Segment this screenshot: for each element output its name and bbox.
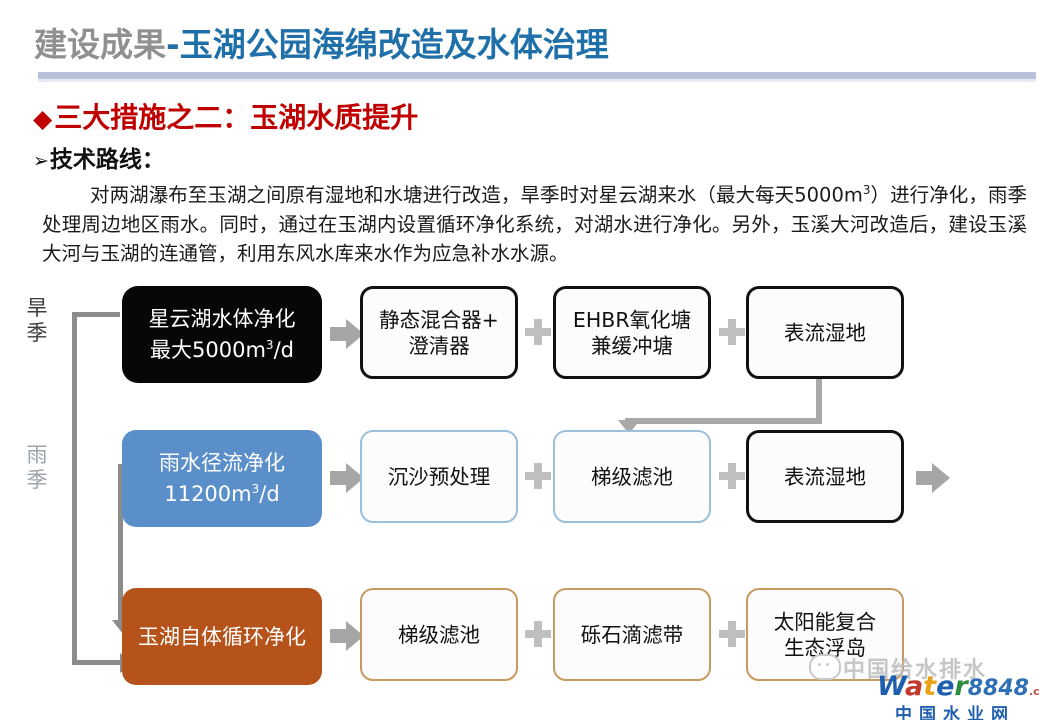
paragraph-part-1: 对两湖瀑布至玉湖之间原有湿地和水塘进行改造，旱季时对星云湖来水（最大每天5000… bbox=[90, 184, 863, 207]
arrow-icon-dry-1 bbox=[330, 319, 364, 349]
page-title-prefix: 建设成果 bbox=[34, 25, 166, 64]
plus-icon-self-1 bbox=[525, 621, 551, 647]
arrow-icon-rainy-1 bbox=[330, 463, 364, 493]
node-stage-dry-3-line1: 表流湿地 bbox=[784, 320, 866, 346]
connector-wetland-horizontal bbox=[625, 418, 822, 424]
flow-row-dry-season: 星云湖水体净化 最大5000m3/d 静态混合器+ 澄清器 EHBR氧化塘 兼缓… bbox=[0, 286, 1040, 386]
body-paragraph: 对两湖瀑布至玉湖之间原有湿地和水塘进行改造，旱季时对星云湖来水（最大每天5000… bbox=[42, 176, 1027, 268]
diamond-bullet-icon: ◆ bbox=[33, 104, 52, 133]
header-divider bbox=[38, 72, 1036, 79]
plus-icon-dry-2 bbox=[719, 319, 745, 345]
section-heading: ◆三大措施之二：玉湖水质提升 bbox=[33, 96, 418, 136]
node-stage-self-2-line1: 砾石滴滤带 bbox=[581, 622, 684, 648]
node-stage-dry-2-line2: 兼缓冲塘 bbox=[573, 333, 691, 359]
node-source-rainy-line2-post: /d bbox=[259, 482, 279, 506]
triangle-bullet-icon: ➢ bbox=[33, 150, 49, 172]
node-source-dry-line2-post: /d bbox=[274, 338, 294, 362]
node-stage-rainy-2[interactable]: 梯级滤池 bbox=[553, 430, 711, 523]
brand-letter-a: a bbox=[905, 671, 923, 702]
node-stage-dry-1-line1: 静态混合器+ bbox=[379, 307, 499, 333]
node-stage-rainy-3[interactable]: 表流湿地 bbox=[746, 430, 904, 523]
plus-icon-self-2 bbox=[719, 621, 745, 647]
node-stage-dry-3[interactable]: 表流湿地 bbox=[746, 286, 904, 379]
node-stage-rainy-2-line1: 梯级滤池 bbox=[591, 464, 673, 490]
node-source-dry-line2-pre: 最大5000m bbox=[150, 338, 266, 362]
node-stage-dry-1-line2: 澄清器 bbox=[379, 333, 499, 359]
flow-row-rainy-season: 雨水径流净化 11200m3/d 沉沙预处理 梯级滤池 表流湿地 bbox=[0, 430, 1040, 530]
brand-letter-e: e bbox=[936, 671, 954, 702]
plus-icon-rainy-2 bbox=[719, 463, 745, 489]
header-divider-shadow bbox=[38, 79, 1036, 82]
page-title: 建设成果-玉湖公园海绵改造及水体治理 bbox=[34, 18, 609, 66]
watermark-cn-bottom: 中国水业网 bbox=[895, 700, 1015, 720]
node-source-rainy-line1: 雨水径流净化 bbox=[159, 450, 285, 476]
sub-heading-text: 技术路线： bbox=[50, 147, 165, 173]
node-stage-self-3-line1: 太阳能复合 bbox=[774, 609, 877, 635]
node-stage-rainy-1[interactable]: 沉沙预处理 bbox=[360, 430, 518, 523]
node-stage-rainy-1-line1: 沉沙预处理 bbox=[388, 464, 491, 490]
brand-number: 8848 bbox=[968, 676, 1029, 701]
node-source-self-line1: 玉湖自体循环净化 bbox=[138, 624, 306, 650]
slide-canvas: 建设成果-玉湖公园海绵改造及水体治理 ◆三大措施之二：玉湖水质提升 ➢技术路线：… bbox=[0, 0, 1040, 720]
wechat-face-icon bbox=[809, 654, 841, 680]
brand-letter-r: r bbox=[954, 671, 967, 702]
node-source-self-circulation[interactable]: 玉湖自体循环净化 bbox=[122, 588, 322, 685]
watermark-brand: Water8848.com bbox=[877, 671, 1040, 702]
arrow-icon-rainy-out bbox=[916, 463, 950, 493]
brand-letter-t: t bbox=[923, 671, 936, 702]
brand-letter-w: W bbox=[877, 671, 905, 702]
paragraph-superscript: 3 bbox=[863, 183, 871, 197]
node-stage-self-2[interactable]: 砾石滴滤带 bbox=[553, 588, 711, 681]
brand-dotcom: .com bbox=[1029, 685, 1040, 698]
node-stage-dry-2-line1: EHBR氧化塘 bbox=[573, 307, 691, 333]
node-stage-dry-2[interactable]: EHBR氧化塘 兼缓冲塘 bbox=[553, 286, 711, 379]
arrow-icon-self-1 bbox=[330, 621, 364, 651]
node-source-rainy-season[interactable]: 雨水径流净化 11200m3/d bbox=[122, 430, 322, 527]
plus-icon-dry-1 bbox=[525, 319, 551, 345]
sub-heading: ➢技术路线： bbox=[33, 140, 165, 174]
plus-icon-rainy-1 bbox=[525, 463, 551, 489]
page-title-main: -玉湖公园海绵改造及水体治理 bbox=[166, 25, 609, 64]
node-source-dry-line2-sup: 3 bbox=[266, 338, 274, 352]
node-stage-self-1[interactable]: 梯级滤池 bbox=[360, 588, 518, 681]
node-stage-self-1-line1: 梯级滤池 bbox=[398, 622, 480, 648]
node-source-rainy-line2-pre: 11200m bbox=[164, 482, 251, 506]
node-stage-dry-1[interactable]: 静态混合器+ 澄清器 bbox=[360, 286, 518, 379]
section-heading-text: 三大措施之二：玉湖水质提升 bbox=[54, 101, 418, 134]
node-source-dry-line1: 星云湖水体净化 bbox=[149, 306, 296, 332]
node-stage-rainy-3-line1: 表流湿地 bbox=[784, 464, 866, 490]
node-source-dry-season[interactable]: 星云湖水体净化 最大5000m3/d bbox=[122, 286, 322, 383]
watermark: 中国给水排水 Water8848.com 中国水业网 bbox=[805, 648, 1040, 720]
